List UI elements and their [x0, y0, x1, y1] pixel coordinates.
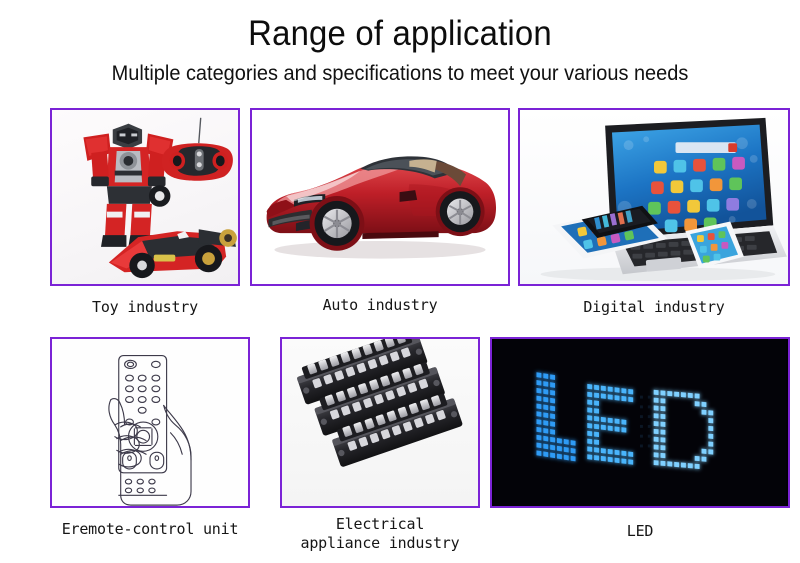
card-auto-industry[interactable]: Auto industry: [250, 108, 510, 286]
card-electrical-appliance-industry[interactable]: Electrical appliance industry: [280, 337, 480, 508]
electrical-appliance-industry-caption: Electrical appliance industry: [270, 515, 490, 553]
auto-industry-caption: Auto industry: [250, 296, 510, 315]
led-image-frame: [490, 337, 790, 508]
led-image: [492, 339, 788, 506]
page-title: Range of application: [24, 0, 776, 55]
toy-industry-image: [52, 110, 238, 284]
card-toy-industry[interactable]: Toy industry: [50, 108, 240, 286]
auto-industry-image: [252, 110, 508, 284]
eremote-control-unit-caption: Eremote-control unit: [40, 520, 260, 539]
electrical-appliance-industry-image: [282, 339, 478, 506]
toy-industry-caption: Toy industry: [45, 298, 245, 317]
auto-industry-image-frame: [250, 108, 510, 286]
card-eremote-control-unit[interactable]: Eremote-control unit: [50, 337, 250, 508]
card-digital-industry[interactable]: Digital industry: [518, 108, 790, 286]
page-subtitle: Multiple categories and specifications t…: [20, 55, 780, 87]
digital-industry-image-frame: [518, 108, 790, 286]
led-caption: LED: [490, 522, 790, 541]
digital-industry-caption: Digital industry: [518, 298, 790, 317]
eremote-control-unit-image-frame: [50, 337, 250, 508]
header: Range of application Multiple categories…: [0, 0, 800, 87]
digital-industry-image: [520, 110, 788, 284]
electrical-appliance-industry-image-frame: [280, 337, 480, 508]
toy-industry-image-frame: [50, 108, 240, 286]
eremote-control-unit-image: [52, 339, 248, 506]
card-led[interactable]: LED: [490, 337, 790, 508]
